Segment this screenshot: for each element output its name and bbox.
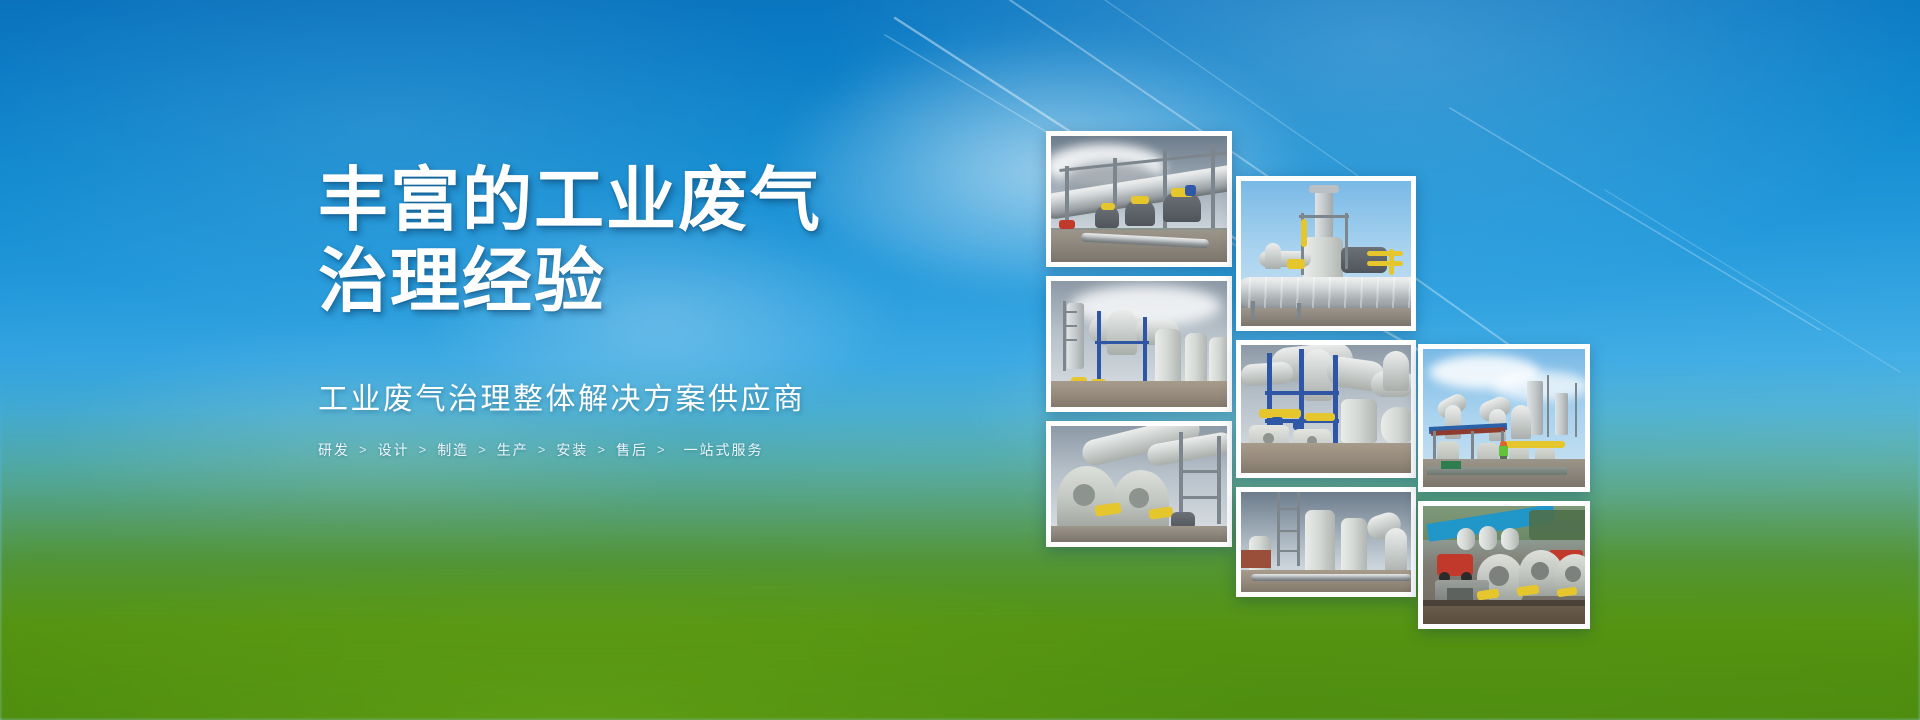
photo-image — [1241, 345, 1411, 473]
process-step-shouhou: 售后 — [616, 440, 648, 460]
photo-image — [1051, 426, 1227, 542]
photo-image — [1051, 136, 1227, 262]
collage-photo-duct-network-blue-frame[interactable] — [1236, 340, 1416, 478]
chevron-right-icon: > — [359, 442, 369, 457]
photo-image — [1241, 492, 1411, 592]
collage-photo-scrubber-tower-array[interactable] — [1046, 276, 1232, 412]
collage-photo-rto-incinerator-plant[interactable] — [1236, 176, 1416, 331]
photo-image — [1423, 506, 1585, 624]
headline-line-2: 治理经验 — [318, 241, 878, 322]
process-step-final: 一站式服务 — [684, 440, 764, 460]
process-step-yanfa: 研发 — [318, 440, 350, 460]
photo-collage — [0, 0, 1920, 720]
process-step-shengchan: 生产 — [497, 440, 529, 460]
chevron-right-icon: > — [538, 442, 548, 457]
collage-photo-rto-pipeline-rooftop[interactable] — [1046, 131, 1232, 267]
photo-image — [1051, 281, 1227, 407]
process-chain: 研发 > 设计 > 制造 > 生产 > 安装 > 售后 > 一站式服务 — [318, 440, 878, 460]
process-step-anzhuang: 安装 — [556, 440, 588, 460]
headline-line-1: 丰富的工业废气 — [318, 161, 822, 239]
hero-banner: 丰富的工业废气 治理经验 工业废气治理整体解决方案供应商 研发 > 设计 > 制… — [0, 0, 1920, 720]
hero-copy: 丰富的工业废气 治理经验 工业废气治理整体解决方案供应商 研发 > 设计 > 制… — [318, 160, 878, 460]
chevron-right-icon: > — [657, 442, 667, 457]
hero-subtitle: 工业废气治理整体解决方案供应商 — [318, 380, 878, 419]
page-title: 丰富的工业废气 治理经验 — [318, 160, 878, 322]
collage-photo-scrubber-plant-operator[interactable] — [1418, 344, 1590, 492]
photo-image — [1241, 181, 1411, 326]
chevron-right-icon: > — [597, 442, 607, 457]
process-step-sheji: 设计 — [378, 440, 410, 460]
chevron-right-icon: > — [419, 442, 429, 457]
collage-photo-fan-assembly-yard[interactable] — [1418, 501, 1590, 629]
photo-image — [1423, 349, 1585, 487]
collage-photo-centrifugal-fan-row[interactable] — [1046, 421, 1232, 547]
process-step-zhizao: 制造 — [437, 440, 469, 460]
collage-photo-spray-tower-site[interactable] — [1236, 487, 1416, 597]
chevron-right-icon: > — [478, 442, 488, 457]
